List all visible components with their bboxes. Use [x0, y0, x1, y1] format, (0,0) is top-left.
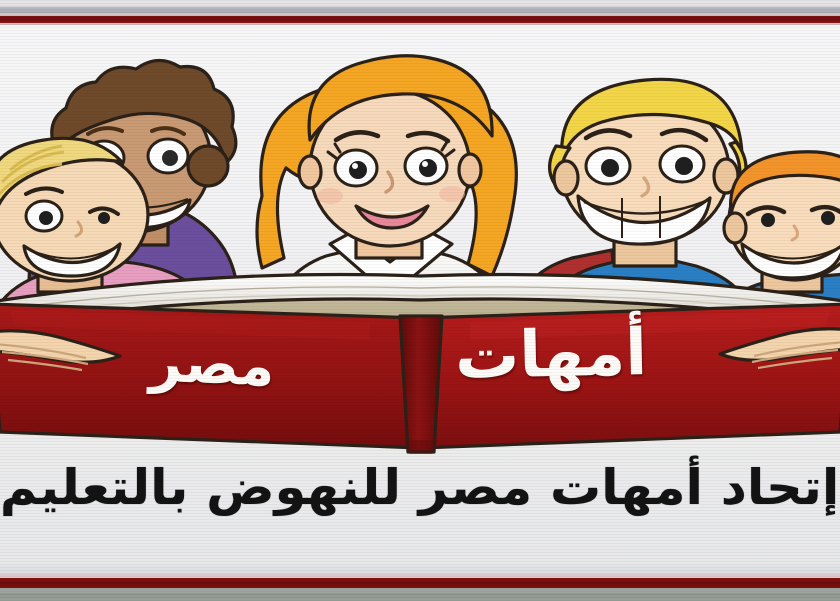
open-book: [0, 274, 840, 454]
poster-image: أمهات مصر إتحاد أمهات مصر للنهوض بالتعلي…: [0, 0, 840, 601]
bottom-border-band: [0, 565, 840, 601]
bottom-border-line-1: [0, 565, 840, 574]
book-title-right-page: أمهات: [454, 316, 648, 394]
bottom-border-accent-red: [0, 578, 840, 588]
book-title-left-page: مصر: [149, 329, 276, 399]
top-border-line-1: [0, 0, 840, 7]
top-border-line-5: [0, 23, 840, 25]
top-border-accent-red: [0, 16, 840, 23]
top-border-band: [0, 0, 840, 24]
book-spine: [400, 316, 442, 452]
poster-headline: إتحاد أمهات مصر للنهوض بالتعليم: [0, 452, 840, 522]
headline-text: إتحاد أمهات مصر للنهوض بالتعليم: [0, 463, 839, 512]
bottom-border-line-5: [0, 593, 840, 601]
